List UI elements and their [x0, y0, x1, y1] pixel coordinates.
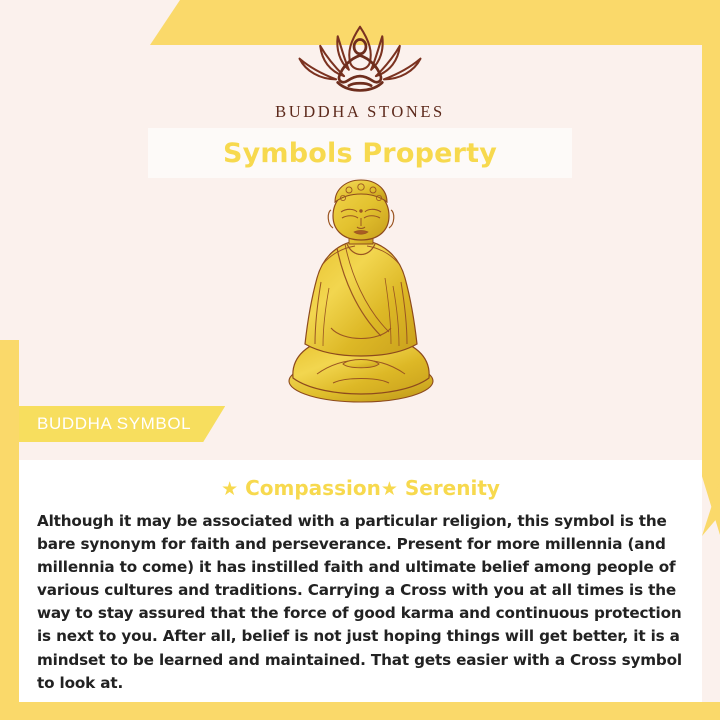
subtitle-word-serenity: Serenity: [398, 476, 500, 500]
page-title: Symbols Property: [223, 138, 497, 169]
poster-root: BUDDHA STONES Symbols Property: [0, 0, 720, 720]
subtitle-word-compassion: Compassion: [238, 476, 381, 500]
content-card: ★ Compassion★ Serenity Although it may b…: [19, 460, 702, 702]
category-ribbon: BUDDHA SYMBOL: [19, 406, 225, 442]
title-band: Symbols Property: [148, 128, 572, 178]
hero-image-area: [19, 178, 702, 408]
brand-name: BUDDHA STONES: [0, 102, 720, 122]
lotus-meditation-icon: [280, 22, 440, 100]
brand-block: BUDDHA STONES: [0, 22, 720, 122]
decorative-bottom-bar: [0, 702, 720, 720]
star-icon-left: ★: [221, 478, 238, 500]
decorative-left-bar: [0, 340, 19, 720]
content-body-text: Although it may be associated with a par…: [33, 510, 688, 695]
category-ribbon-label: BUDDHA SYMBOL: [37, 414, 191, 434]
buddha-statue-icon: [273, 178, 449, 404]
star-icon-right: ★: [381, 478, 398, 500]
content-subtitle: ★ Compassion★ Serenity: [33, 476, 688, 500]
